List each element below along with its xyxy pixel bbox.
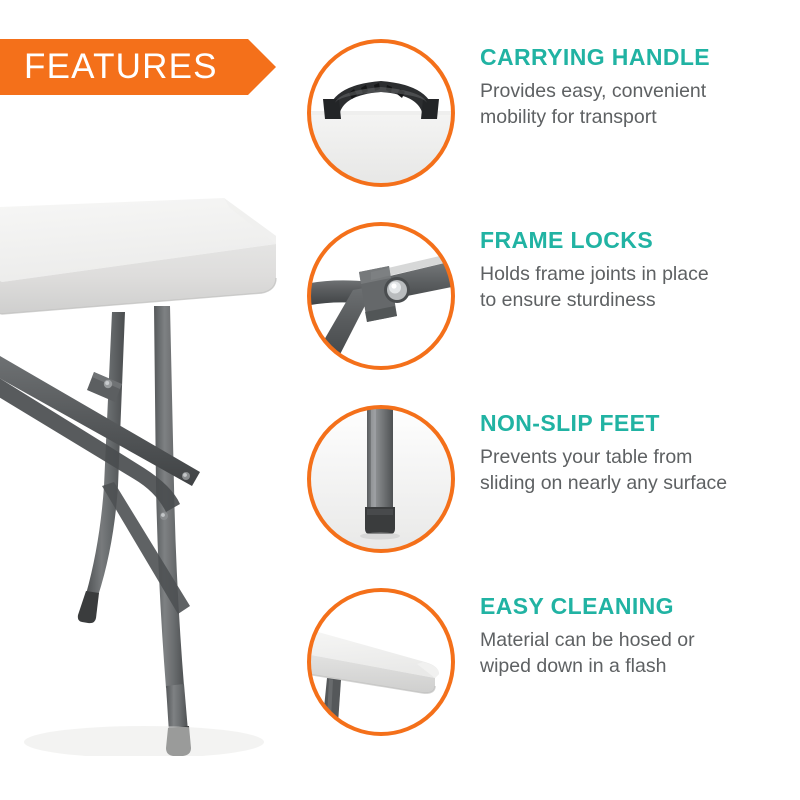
feature-row-non-slip-feet: NON-SLIP FEET Prevents your table from s… [305,398,800,558]
feature-desc-line: Material can be hosed or [480,627,800,653]
feature-description: Holds frame joints in place to ensure st… [480,261,800,313]
feature-desc-line: sliding on nearly any surface [480,470,800,496]
feature-desc-line: Provides easy, convenient [480,78,800,104]
feature-description: Provides easy, convenient mobility for t… [480,78,800,130]
tabletop-corner-photo [305,586,457,738]
features-banner: FEATURES [0,39,276,95]
non-slip-foot-photo [305,403,457,555]
feature-description: Material can be hosed or wiped down in a… [480,627,800,679]
feature-title: NON-SLIP FEET [480,410,800,437]
feature-text-easy-cleaning: EASY CLEANING Material can be hosed or w… [480,593,800,679]
feature-desc-line: Holds frame joints in place [480,261,800,287]
feature-description: Prevents your table from sliding on near… [480,444,800,496]
feature-desc-line: Prevents your table from [480,444,800,470]
folding-table-photo [0,186,294,756]
feature-desc-line: to ensure sturdiness [480,287,800,313]
feature-desc-line: wiped down in a flash [480,653,800,679]
feature-text-non-slip-feet: NON-SLIP FEET Prevents your table from s… [480,410,800,496]
feature-text-frame-locks: FRAME LOCKS Holds frame joints in place … [480,227,800,313]
carrying-handle-photo [305,37,457,189]
feature-title: FRAME LOCKS [480,227,800,254]
banner-label: FEATURES [24,39,218,95]
feature-desc-line: mobility for transport [480,104,800,130]
feature-text-carrying-handle: CARRYING HANDLE Provides easy, convenien… [480,44,800,130]
feature-title: CARRYING HANDLE [480,44,800,71]
feature-row-easy-cleaning: EASY CLEANING Material can be hosed or w… [305,581,800,741]
frame-lock-photo [305,220,457,372]
feature-row-carrying-handle: CARRYING HANDLE Provides easy, convenien… [305,32,800,192]
feature-title: EASY CLEANING [480,593,800,620]
feature-row-frame-locks: FRAME LOCKS Holds frame joints in place … [305,215,800,375]
